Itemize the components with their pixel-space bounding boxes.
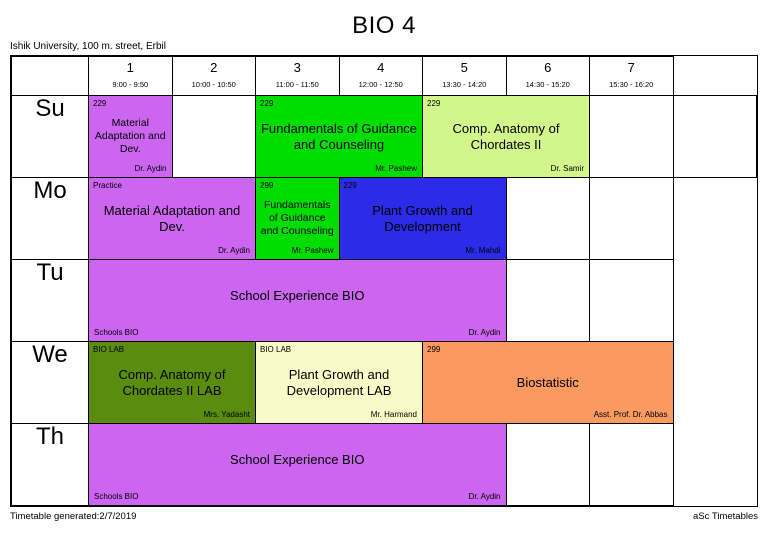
lesson-teacher: Mrs. Yadasht — [89, 410, 255, 423]
lesson-subject: Plant Growth and Development — [343, 203, 503, 235]
period-header-3: 311:00 - 11:50 — [256, 57, 340, 96]
lesson-content: BIO LABPlant Growth and Development LABM… — [256, 342, 422, 423]
period-time: 14:30 - 15:20 — [507, 75, 590, 90]
lesson-room: Schools BIO — [94, 328, 138, 338]
lesson-subject-wrap: Fundamentals of Guidance and Counseling — [256, 109, 422, 164]
empty-slot[interactable] — [590, 260, 674, 342]
lesson-content: 229Comp. Anatomy of Chordates IIDr. Sami… — [423, 96, 589, 177]
lesson-subject-wrap: School Experience BIO — [89, 263, 506, 328]
period-number: 4 — [340, 57, 423, 75]
lesson-content: School Experience BIOSchools BIODr. Aydi… — [89, 424, 506, 505]
period-header-1: 19:00 - 9:50 — [89, 57, 173, 96]
lesson-subject-wrap: Fundamentals of Guidance and Counseling — [256, 191, 339, 246]
lesson-room: BIO LAB — [89, 342, 255, 355]
lesson-room: 299 — [256, 178, 339, 191]
lesson-teacher: Dr. Samir — [423, 164, 589, 177]
day-label-su: Su — [12, 96, 89, 178]
lesson-subject: Material Adaptation and Dev. — [92, 117, 169, 156]
lesson-cell[interactable]: 229Material Adaptation and Dev.Dr. Aydin — [89, 96, 173, 178]
empty-slot[interactable] — [590, 96, 674, 178]
lesson-cell[interactable]: 299BiostatisticAsst. Prof. Dr. Abbas — [423, 342, 674, 424]
lesson-cell[interactable]: 229Plant Growth and DevelopmentMr. Mahdi — [339, 178, 506, 260]
lesson-subject-wrap: Material Adaptation and Dev. — [89, 109, 172, 164]
lesson-teacher: Schools BIODr. Aydin — [89, 492, 506, 505]
empty-slot[interactable] — [506, 178, 590, 260]
lesson-room: Schools BIO — [94, 492, 138, 502]
lesson-content: 299Fundamentals of Guidance and Counseli… — [256, 178, 339, 259]
period-number: 1 — [89, 57, 172, 75]
lesson-cell[interactable]: BIO LABPlant Growth and Development LABM… — [256, 342, 423, 424]
period-header-5: 513:30 - 14:20 — [423, 57, 507, 96]
lesson-subject-wrap: Material Adaptation and Dev. — [89, 191, 255, 246]
lesson-teacher: Dr. Aydin — [469, 492, 501, 502]
timetable-header-row: 19:00 - 9:50210:00 - 10:50311:00 - 11:50… — [12, 57, 757, 96]
lesson-subject: Biostatistic — [517, 375, 579, 391]
footer-generated-label: Timetable generated:2/7/2019 — [10, 511, 136, 522]
empty-slot[interactable] — [172, 96, 256, 178]
period-time: 12:00 - 12:50 — [340, 75, 423, 90]
day-label-we: We — [12, 342, 89, 424]
lesson-teacher: Asst. Prof. Dr. Abbas — [423, 410, 673, 423]
period-time: 11:00 - 11:50 — [256, 75, 339, 90]
period-header-2: 210:00 - 10:50 — [172, 57, 256, 96]
period-number: 7 — [590, 57, 673, 75]
empty-slot[interactable] — [590, 424, 674, 506]
lesson-subject: Plant Growth and Development LAB — [259, 367, 419, 399]
period-number: 2 — [173, 57, 256, 75]
timetable-row-th: ThSchool Experience BIOSchools BIODr. Ay… — [12, 424, 757, 506]
lesson-room: BIO LAB — [256, 342, 422, 355]
lesson-content: PracticeMaterial Adaptation and Dev.Dr. … — [89, 178, 255, 259]
lesson-cell[interactable]: 229Comp. Anatomy of Chordates IIDr. Sami… — [423, 96, 590, 178]
lesson-content: 229Material Adaptation and Dev.Dr. Aydin — [89, 96, 172, 177]
day-label-th: Th — [12, 424, 89, 506]
lesson-subject-wrap: Plant Growth and Development LAB — [256, 355, 422, 410]
lesson-teacher: Dr. Aydin — [89, 246, 255, 259]
empty-slot[interactable] — [506, 260, 590, 342]
institution-subtitle: Ishik University, 100 m. street, Erbil — [10, 41, 166, 52]
lesson-cell[interactable]: School Experience BIOSchools BIODr. Aydi… — [89, 424, 507, 506]
period-number: 5 — [423, 57, 506, 75]
timetable-row-tu: TuSchool Experience BIOSchools BIODr. Ay… — [12, 260, 757, 342]
timetable-corner-cell — [12, 57, 89, 96]
empty-slot[interactable] — [673, 96, 757, 178]
lesson-room: 229 — [89, 96, 172, 109]
lesson-content: 229Fundamentals of Guidance and Counseli… — [256, 96, 422, 177]
day-label-mo: Mo — [12, 178, 89, 260]
lesson-teacher: Dr. Aydin — [89, 164, 172, 177]
lesson-teacher: Mr. Mahdi — [340, 246, 506, 259]
lesson-teacher: Dr. Aydin — [469, 328, 501, 338]
period-header-7: 715:30 - 16:20 — [590, 57, 674, 96]
lesson-subject-wrap: Comp. Anatomy of Chordates II — [423, 109, 589, 164]
lesson-subject: Material Adaptation and Dev. — [92, 203, 252, 235]
lesson-room: 229 — [423, 96, 589, 109]
period-header-6: 614:30 - 15:20 — [506, 57, 590, 96]
timetable-row-mo: MoPracticeMaterial Adaptation and Dev.Dr… — [12, 178, 757, 260]
lesson-teacher: Mr. Harmand — [256, 410, 422, 423]
lesson-subject: Comp. Anatomy of Chordates II — [426, 121, 586, 153]
timetable-container: 19:00 - 9:50210:00 - 10:50311:00 - 11:50… — [10, 55, 758, 507]
lesson-content: 299BiostatisticAsst. Prof. Dr. Abbas — [423, 342, 673, 423]
period-time: 13:30 - 14:20 — [423, 75, 506, 90]
lesson-subject: Comp. Anatomy of Chordates II LAB — [92, 367, 252, 399]
lesson-cell[interactable]: 299Fundamentals of Guidance and Counseli… — [256, 178, 340, 260]
period-number: 6 — [507, 57, 590, 75]
lesson-subject-wrap: Comp. Anatomy of Chordates II LAB — [89, 355, 255, 410]
lesson-subject-wrap: Biostatistic — [423, 355, 673, 410]
page-title: BIO 4 — [0, 0, 768, 40]
period-time: 9:00 - 9:50 — [89, 75, 172, 90]
lesson-content: School Experience BIOSchools BIODr. Aydi… — [89, 260, 506, 341]
lesson-teacher: Schools BIODr. Aydin — [89, 328, 506, 341]
period-number: 3 — [256, 57, 339, 75]
lesson-room: Practice — [89, 178, 255, 191]
lesson-teacher: Mr. Pashew — [256, 164, 422, 177]
timetable-row-su: Su229Material Adaptation and Dev.Dr. Ayd… — [12, 96, 757, 178]
lesson-subject: School Experience BIO — [230, 288, 364, 304]
lesson-subject: Fundamentals of Guidance and Counseling — [259, 199, 336, 238]
lesson-subject: Fundamentals of Guidance and Counseling — [259, 121, 419, 153]
lesson-teacher: Mr. Pashew — [256, 246, 339, 259]
lesson-room: 229 — [340, 178, 506, 191]
lesson-room: 229 — [256, 96, 422, 109]
lesson-subject: School Experience BIO — [230, 452, 364, 468]
lesson-cell[interactable]: PracticeMaterial Adaptation and Dev.Dr. … — [89, 178, 256, 260]
period-header-4: 412:00 - 12:50 — [339, 57, 423, 96]
lesson-room: 299 — [423, 342, 673, 355]
lesson-cell[interactable]: BIO LABComp. Anatomy of Chordates II LAB… — [89, 342, 256, 424]
lesson-cell[interactable]: School Experience BIOSchools BIODr. Aydi… — [89, 260, 507, 342]
empty-slot[interactable] — [590, 178, 674, 260]
lesson-subject-wrap: School Experience BIO — [89, 427, 506, 492]
period-time: 10:00 - 10:50 — [173, 75, 256, 90]
lesson-cell[interactable]: 229Fundamentals of Guidance and Counseli… — [256, 96, 423, 178]
lesson-content: 229Plant Growth and DevelopmentMr. Mahdi — [340, 178, 506, 259]
footer-brand-label: aSc Timetables — [693, 511, 758, 522]
day-label-tu: Tu — [12, 260, 89, 342]
lesson-subject-wrap: Plant Growth and Development — [340, 191, 506, 246]
timetable-row-we: WeBIO LABComp. Anatomy of Chordates II L… — [12, 342, 757, 424]
lesson-content: BIO LABComp. Anatomy of Chordates II LAB… — [89, 342, 255, 423]
period-time: 15:30 - 16:20 — [590, 75, 673, 90]
timetable: 19:00 - 9:50210:00 - 10:50311:00 - 11:50… — [11, 56, 757, 506]
empty-slot[interactable] — [506, 424, 590, 506]
